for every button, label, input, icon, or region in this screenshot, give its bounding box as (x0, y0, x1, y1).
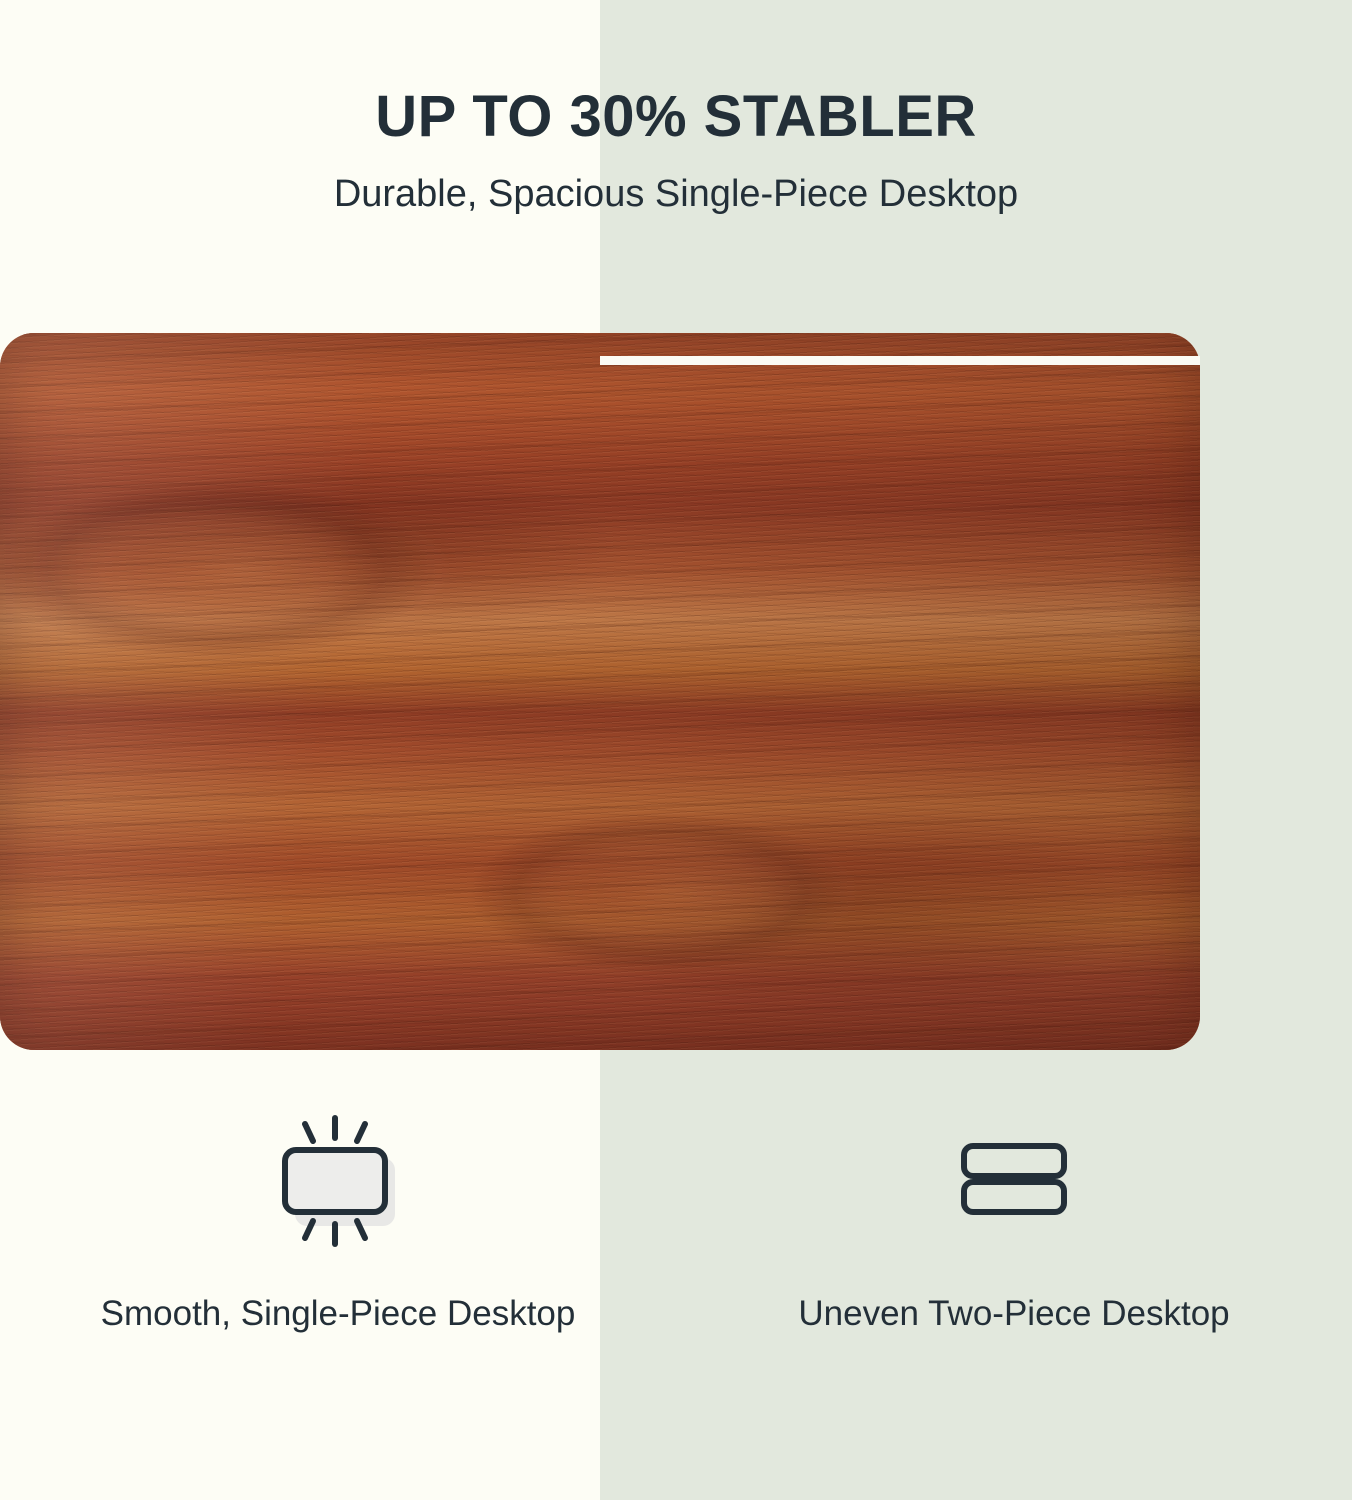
two-piece-desktop-icon (939, 1110, 1089, 1260)
two-piece-seam-line (600, 356, 1200, 365)
header: UP TO 30% STABLER Durable, Spacious Sing… (0, 0, 1352, 216)
comparison-row: Smooth, Single-Piece Desktop Uneven Two-… (0, 1110, 1352, 1430)
product-infographic: UP TO 30% STABLER Durable, Spacious Sing… (0, 0, 1352, 1500)
comparison-column-single-piece: Smooth, Single-Piece Desktop (0, 1110, 676, 1430)
desktop-product-image (0, 333, 1200, 1050)
wood-edge-shading (0, 333, 1200, 1050)
comparison-column-two-piece: Uneven Two-Piece Desktop (676, 1110, 1352, 1430)
comparison-label-single-piece: Smooth, Single-Piece Desktop (101, 1292, 576, 1337)
single-piece-desktop-icon (263, 1110, 413, 1260)
page-subtitle: Durable, Spacious Single-Piece Desktop (0, 173, 1352, 217)
page-title: UP TO 30% STABLER (0, 86, 1352, 149)
comparison-label-two-piece: Uneven Two-Piece Desktop (798, 1292, 1229, 1337)
